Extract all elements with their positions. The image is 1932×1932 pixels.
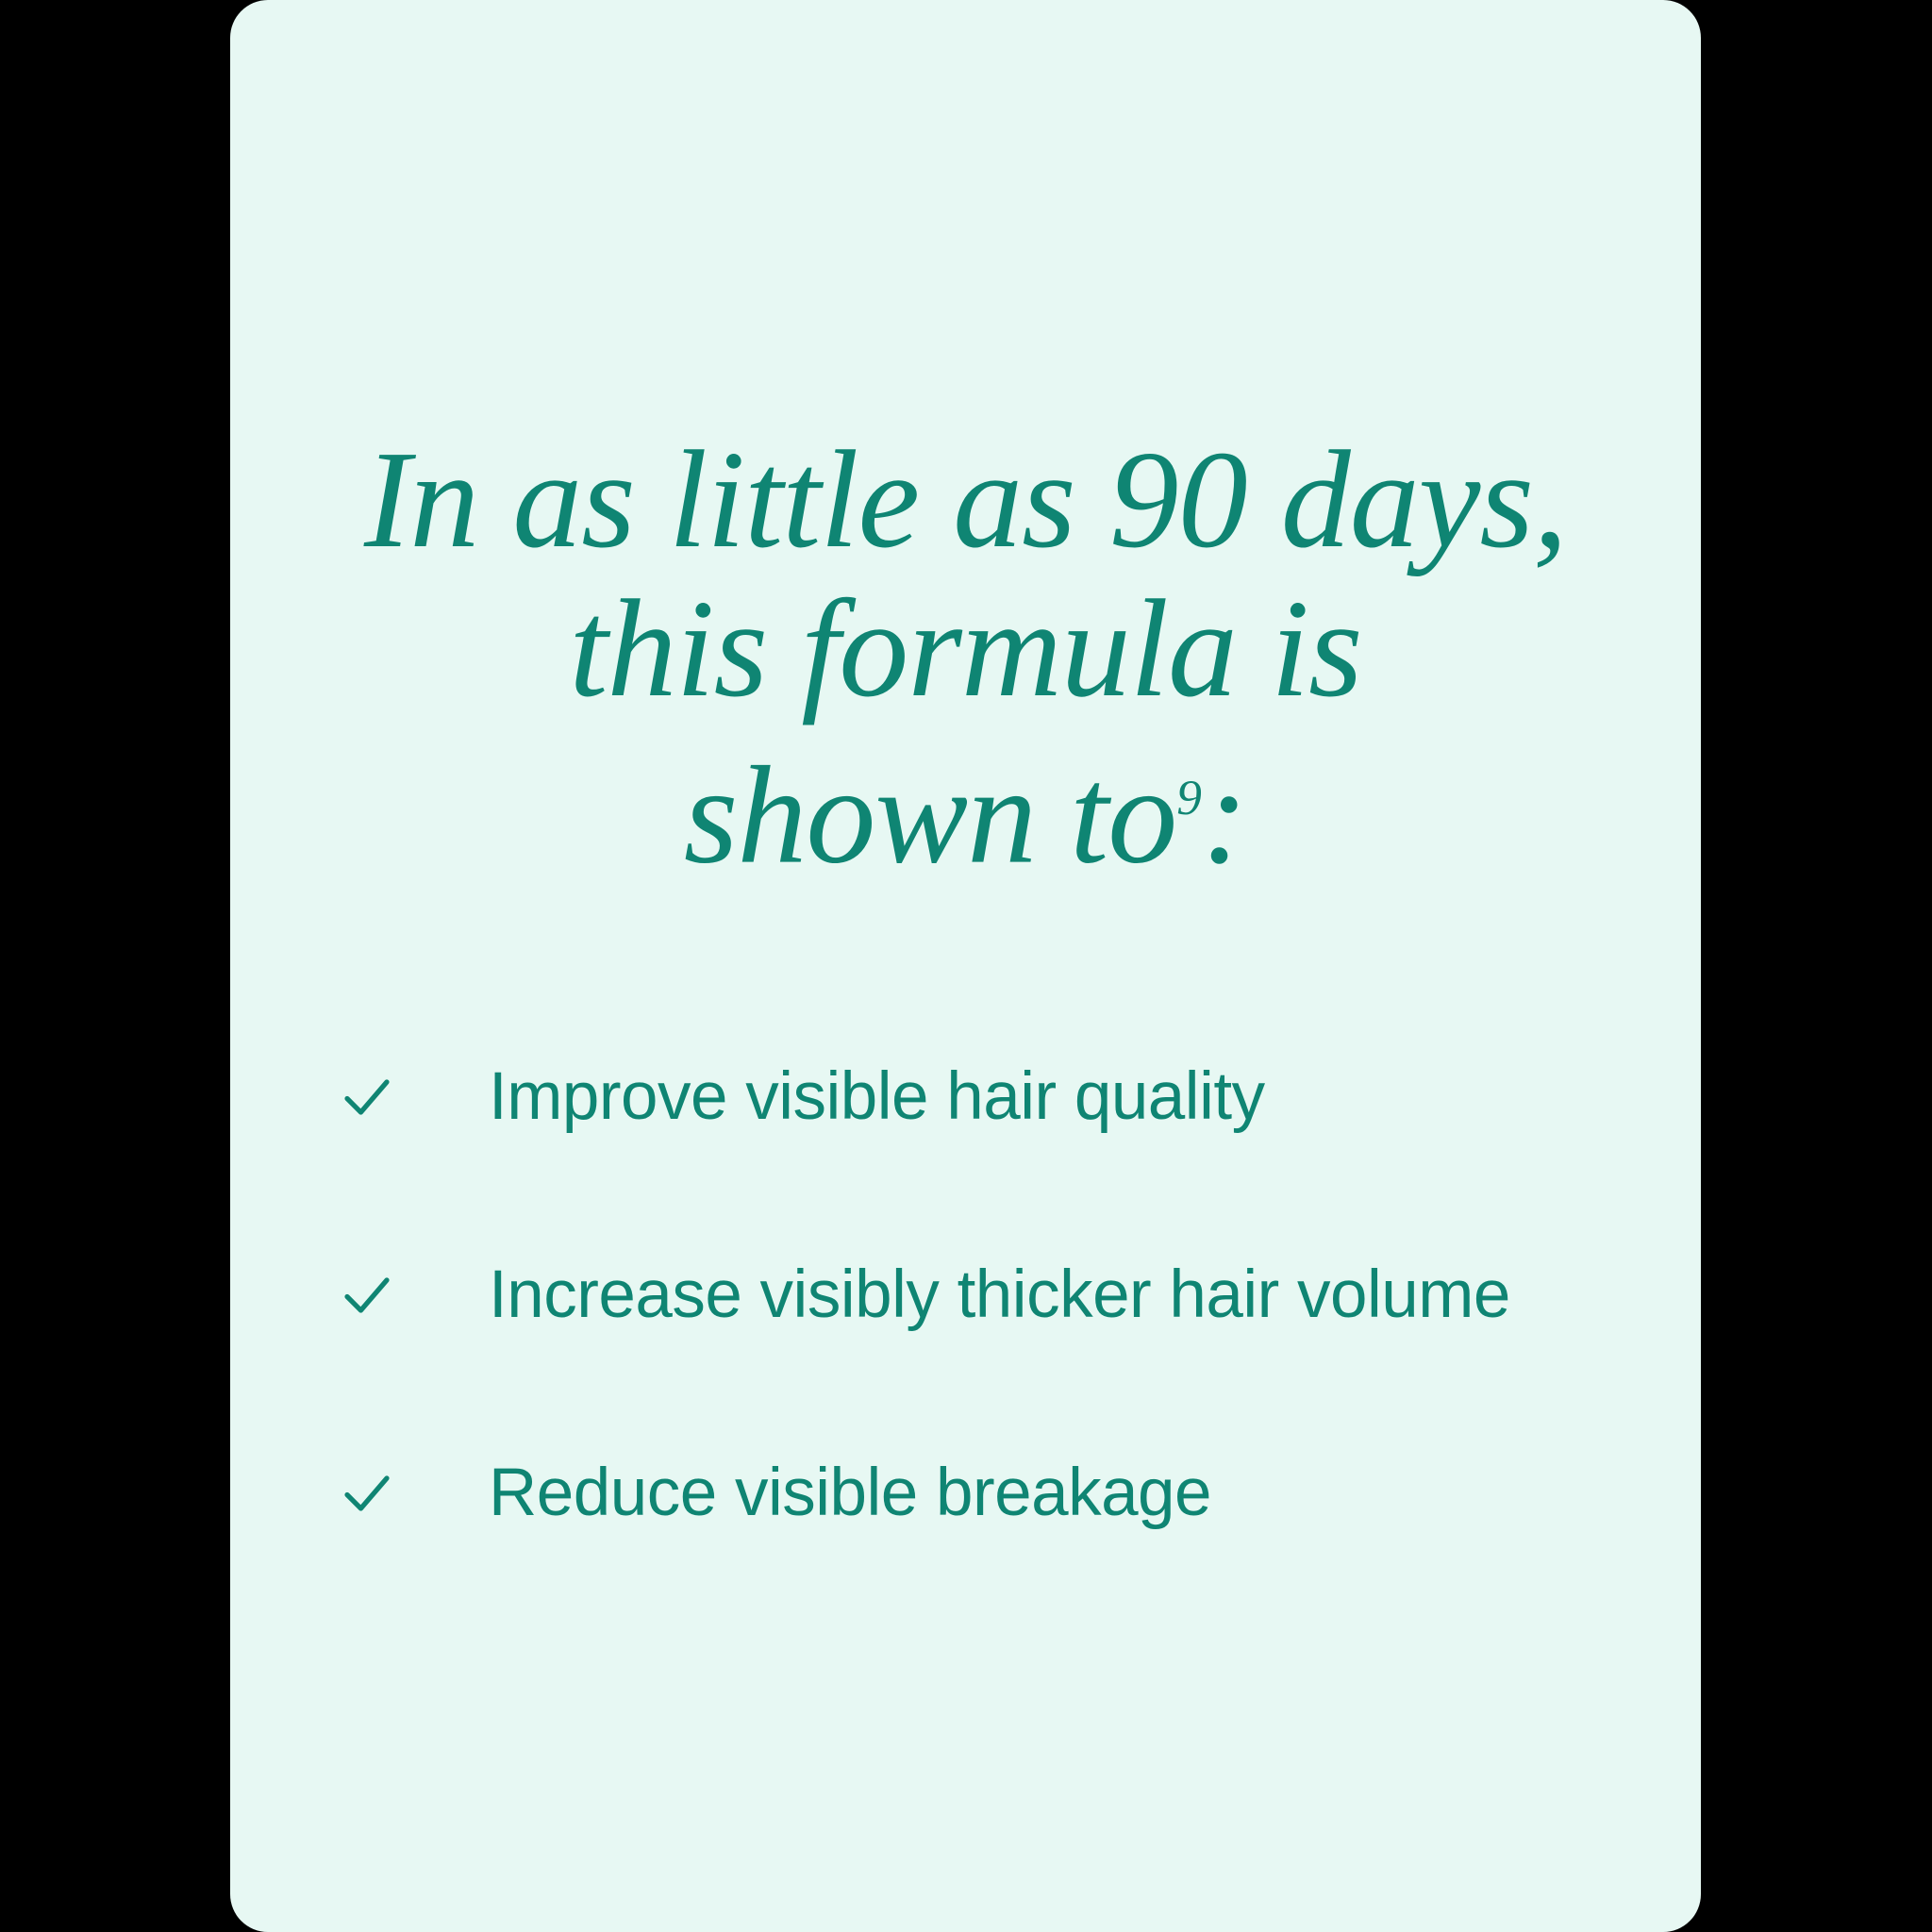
page-canvas: In as little as 90 days, this formula is…: [0, 0, 1932, 1932]
footnote-reference: 9: [1176, 770, 1202, 825]
headline-line-1: In as little as 90 days,: [230, 425, 1701, 575]
list-item: Improve visible hair quality: [230, 1058, 1701, 1257]
headline-line-3-suffix: :: [1202, 739, 1247, 893]
benefits-list: Improve visible hair quality Increase vi…: [230, 1058, 1701, 1653]
headline-line-3-text: shown to: [684, 739, 1176, 893]
check-icon: [342, 1072, 391, 1121]
check-icon: [342, 1468, 391, 1517]
list-item: Increase visibly thicker hair volume: [230, 1257, 1701, 1455]
check-icon: [342, 1270, 391, 1319]
page-title: In as little as 90 days, this formula is…: [230, 425, 1701, 891]
list-item: Reduce visible breakage: [230, 1455, 1701, 1653]
benefit-claims-card: In as little as 90 days, this formula is…: [230, 0, 1701, 1932]
list-item-label: Reduce visible breakage: [489, 1455, 1211, 1532]
headline-line-3: shown to9:: [230, 724, 1701, 891]
list-item-label: Improve visible hair quality: [489, 1058, 1265, 1136]
headline-line-2: this formula is: [230, 575, 1701, 724]
list-item-label: Increase visibly thicker hair volume: [489, 1257, 1510, 1334]
